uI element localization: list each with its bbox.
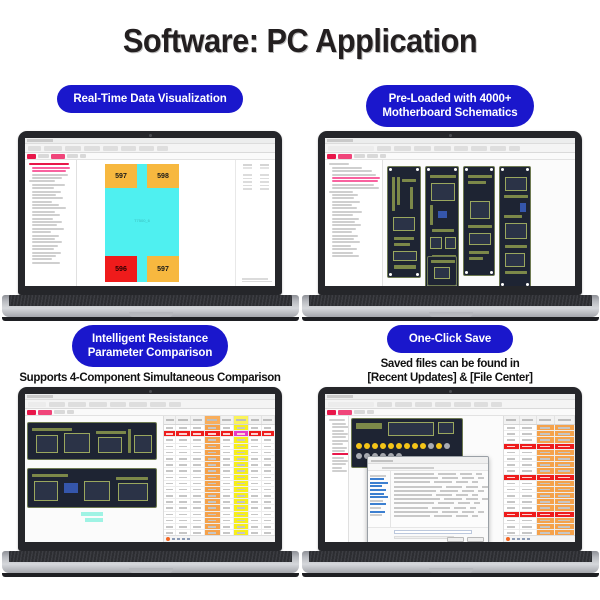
schematic-board-top[interactable] — [27, 422, 157, 460]
webcam-icon — [149, 390, 152, 393]
laptop-lid — [318, 131, 582, 295]
laptop-screen — [25, 394, 275, 542]
board-compare-viewer[interactable] — [25, 416, 163, 542]
panel-one-click-save: One-Click Save Saved files can be found … — [300, 325, 600, 575]
app-body — [25, 416, 275, 542]
schematic-board-3[interactable] — [463, 166, 495, 276]
app-window — [325, 138, 575, 286]
value-block-3[interactable]: 596 — [105, 256, 137, 282]
panel-pre-loaded-schematics: Pre-Loaded with 4000+ Motherboard Schema… — [300, 85, 600, 335]
laptop-screen — [325, 394, 575, 542]
schematic-tree-sidebar[interactable] — [325, 160, 383, 286]
dialog-body — [368, 471, 488, 527]
panel-subtitle: Saved files can be found in [Recent Upda… — [300, 357, 600, 385]
table-statusbar[interactable] — [164, 535, 275, 542]
app-body — [325, 416, 575, 542]
laptop-lid: T7500_6 597 598 596 597 — [18, 131, 282, 295]
table-body[interactable] — [504, 425, 575, 542]
webcam-icon — [149, 134, 152, 137]
table-body[interactable] — [164, 425, 275, 542]
laptop-foot — [2, 317, 299, 321]
table-statusbar[interactable] — [504, 535, 575, 542]
filename-input[interactable] — [394, 530, 472, 534]
save-file-dialog[interactable] — [367, 456, 489, 542]
filetype-select[interactable] — [394, 536, 454, 539]
tab-highlight[interactable] — [51, 154, 65, 159]
component-tree-sidebar[interactable] — [25, 160, 77, 286]
app-toolbar[interactable] — [325, 144, 575, 153]
app-toolbar[interactable] — [25, 400, 275, 409]
webcam-icon — [449, 134, 452, 137]
laptop-base — [2, 551, 299, 573]
annotation-note-2 — [85, 518, 103, 522]
app-tabbar[interactable] — [325, 409, 575, 416]
cancel-button[interactable] — [467, 537, 484, 542]
laptop-base — [302, 551, 599, 573]
laptop-foot — [2, 573, 299, 577]
annotation-note-1 — [81, 512, 103, 516]
schematic-board-1[interactable] — [387, 166, 421, 278]
app-window: T7500_6 597 598 596 597 — [25, 138, 275, 286]
caption-block: Pre-Loaded with 4000+ Motherboard Schema… — [300, 85, 600, 127]
laptop-base — [302, 295, 599, 317]
value-block-4[interactable]: 597 — [147, 256, 179, 282]
laptop-mockup — [318, 131, 582, 321]
value-block-1[interactable]: 597 — [105, 164, 137, 188]
webcam-icon — [449, 390, 452, 393]
dialog-path-bar[interactable] — [368, 464, 488, 471]
window-titlebar — [25, 394, 275, 400]
laptop-mockup — [18, 387, 282, 577]
laptop-mockup — [318, 387, 582, 577]
schematic-board-4[interactable] — [499, 166, 531, 286]
board-viewer[interactable] — [349, 416, 503, 542]
window-titlebar — [325, 394, 575, 400]
dialog-footer — [368, 527, 488, 542]
laptop-lid — [318, 387, 582, 551]
app-tabbar[interactable] — [25, 409, 275, 416]
panel-real-time-data-visualization: Real-Time Data Visualization — [0, 85, 300, 335]
app-tabbar[interactable] — [25, 153, 275, 160]
value-block-2[interactable]: 598 — [147, 164, 179, 188]
caption-block: One-Click Save Saved files can be found … — [300, 325, 600, 385]
caption-block: Real-Time Data Visualization — [0, 85, 300, 113]
panel-intelligent-resistance-comparison: Intelligent Resistance Parameter Compari… — [0, 325, 300, 575]
app-body: T7500_6 597 598 596 597 — [25, 160, 275, 286]
app-window — [325, 394, 575, 542]
schematic-viewer[interactable] — [383, 160, 575, 286]
tab-active[interactable] — [27, 154, 36, 159]
app-body — [325, 160, 575, 286]
laptop-foot — [302, 317, 599, 321]
laptop-lid — [18, 387, 282, 551]
laptop-mockup: T7500_6 597 598 596 597 — [18, 131, 282, 321]
poster-root: Software: PC Application Real-Time Data … — [0, 0, 600, 600]
status-indicator-icon — [166, 537, 170, 541]
canvas-label: T7500_6 — [105, 218, 179, 223]
save-button[interactable] — [447, 537, 464, 542]
laptop-screen — [325, 138, 575, 286]
save-results-table[interactable] — [503, 416, 575, 542]
status-indicator-icon — [506, 537, 510, 541]
laptop-screen: T7500_6 597 598 596 597 — [25, 138, 275, 286]
laptop-base — [2, 295, 299, 317]
laptop-foot — [302, 573, 599, 577]
dialog-folder-tree[interactable] — [368, 471, 391, 527]
table-header-row — [164, 416, 275, 425]
schematic-board-bottom[interactable] — [27, 468, 157, 508]
window-titlebar — [25, 138, 275, 144]
panel-caption-pill: Intelligent Resistance Parameter Compari… — [72, 325, 229, 367]
caption-block: Intelligent Resistance Parameter Compari… — [0, 325, 300, 385]
watermark — [242, 278, 272, 283]
dialog-file-list[interactable] — [391, 471, 489, 527]
page-title: Software: PC Application — [21, 22, 579, 60]
properties-panel[interactable] — [235, 160, 275, 286]
visualization-canvas[interactable]: T7500_6 597 598 596 597 — [77, 160, 275, 286]
schematic-board-5[interactable] — [427, 256, 457, 286]
panel-subtitle: Supports 4-Component Simultaneous Compar… — [0, 371, 300, 385]
panel-caption-pill: Real-Time Data Visualization — [57, 85, 242, 113]
dialog-titlebar — [368, 457, 488, 464]
window-titlebar — [325, 138, 575, 144]
panel-caption-pill: One-Click Save — [387, 325, 513, 353]
table-header-row — [504, 416, 575, 425]
app-window — [25, 394, 275, 542]
app-toolbar[interactable] — [25, 144, 275, 153]
component-tree-sidebar[interactable] — [325, 416, 349, 542]
app-toolbar[interactable] — [325, 400, 575, 409]
app-tabbar[interactable] — [325, 153, 575, 160]
panel-caption-pill: Pre-Loaded with 4000+ Motherboard Schema… — [366, 85, 533, 127]
resistance-comparison-table[interactable] — [163, 416, 275, 542]
